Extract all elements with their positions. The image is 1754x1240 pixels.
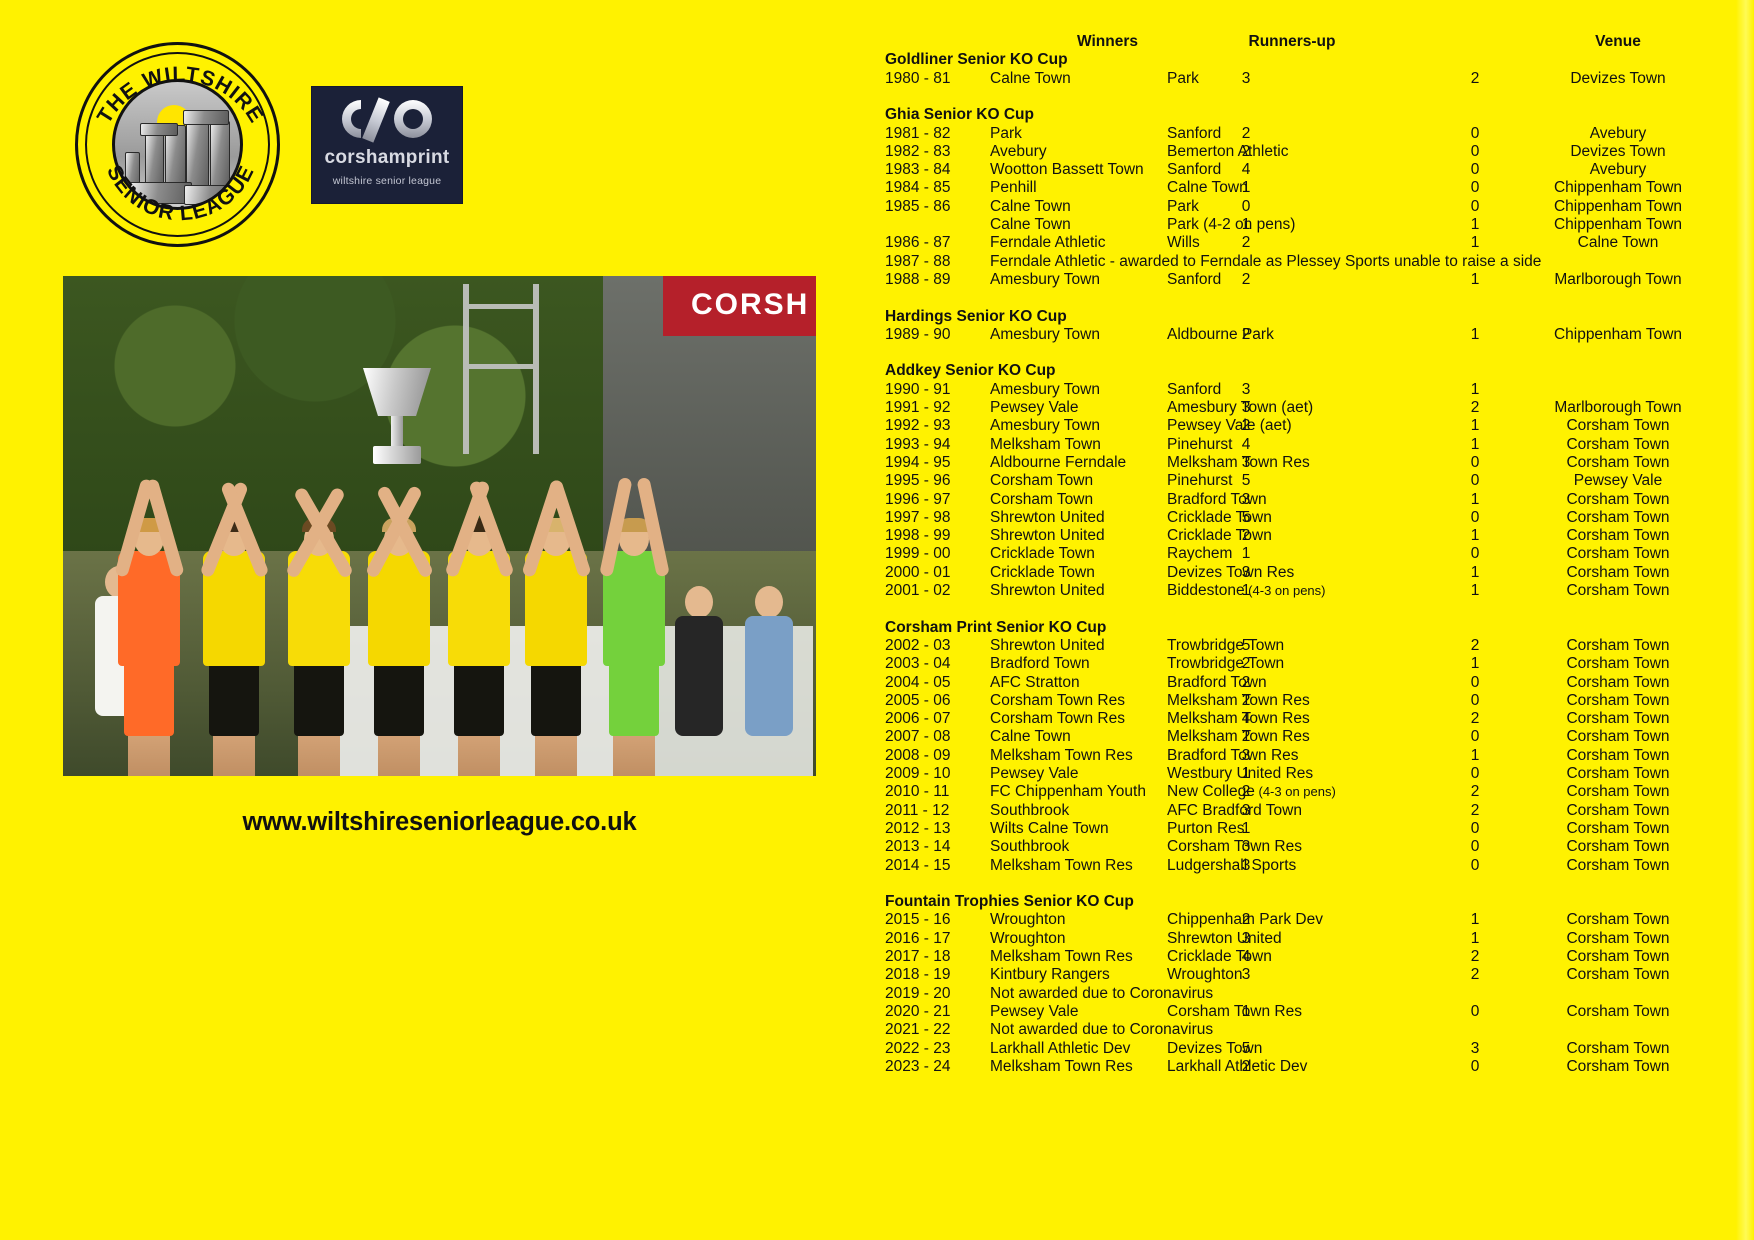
runner-up-score-cell: 1: [1465, 747, 1485, 765]
season-cell: 2004 - 05: [885, 674, 977, 692]
table-row: 2006 - 07Corsham Town Res4Melksham Town …: [880, 710, 1754, 728]
runner-up-cell: Wroughton: [1167, 966, 1457, 984]
spectator: [673, 586, 725, 736]
venue-cell: Corsham Town: [1495, 1003, 1741, 1021]
venue-cell: Corsham Town: [1495, 966, 1741, 984]
cup-section-title-row: Addkey Senior KO Cup: [880, 362, 1754, 380]
runner-up-score-cell: 2: [1465, 802, 1485, 820]
season-cell: 2012 - 13: [885, 820, 977, 838]
trophy-icon: [353, 368, 441, 476]
runner-up-cell: Cricklade Town: [1167, 509, 1457, 527]
runner-up-score-cell: 1: [1465, 271, 1485, 289]
runner-up-score-cell: 0: [1465, 125, 1485, 143]
table-row: 1982 - 83Avebury2Bemerton Athletic0Deviz…: [880, 143, 1754, 161]
runner-up-score-cell: 1: [1465, 930, 1485, 948]
venue-cell: Calne Town: [1495, 234, 1741, 252]
table-row: 2018 - 19Kintbury Rangers3Wroughton2Cors…: [880, 966, 1754, 984]
runner-up-score-cell: 0: [1465, 728, 1485, 746]
table-row: 2011 - 12Southbrook3AFC Bradford Town2Co…: [880, 802, 1754, 820]
runner-up-cell: Bradford Town: [1167, 674, 1457, 692]
season-cell: 2005 - 06: [885, 692, 977, 710]
season-cell: 1992 - 93: [885, 417, 977, 435]
table-row: 2004 - 05AFC Stratton2Bradford Town0Cors…: [880, 674, 1754, 692]
season-cell: 2015 - 16: [885, 911, 977, 929]
runner-up-score-cell: 1: [1465, 234, 1485, 252]
runner-up-score-cell: 0: [1465, 545, 1485, 563]
table-row: 1998 - 99Shrewton United2Cricklade Town1…: [880, 527, 1754, 545]
runner-up-score-cell: 0: [1465, 692, 1485, 710]
season-cell: 2017 - 18: [885, 948, 977, 966]
season-cell: 1983 - 84: [885, 161, 977, 179]
venue-cell: Corsham Town: [1495, 1040, 1741, 1058]
runner-up-score-cell: 0: [1465, 674, 1485, 692]
table-row: 2023 - 24Melksham Town Res2Larkhall Athl…: [880, 1058, 1754, 1076]
runner-up-cell: Ludgershall Sports: [1167, 857, 1457, 875]
season-cell: 2019 - 20: [885, 985, 977, 1003]
season-cell: 1984 - 85: [885, 179, 977, 197]
table-row: 2010 - 11FC Chippenham Youth2New College…: [880, 783, 1754, 801]
runner-up-score-cell: 0: [1465, 765, 1485, 783]
venue-cell: Chippenham Town: [1495, 179, 1741, 197]
venue-cell: Chippenham Town: [1495, 198, 1741, 216]
venue-cell: Corsham Town: [1495, 509, 1741, 527]
runner-up-score-cell: 2: [1465, 710, 1485, 728]
table-row: 1989 - 90Amesbury Town2Aldbourne Park1Ch…: [880, 326, 1754, 344]
website-url[interactable]: www.wiltshireseniorleague.co.uk: [63, 808, 816, 837]
table-row: 2022 - 23Larkhall Athletic Dev5Devizes T…: [880, 1040, 1754, 1058]
season-cell: 1989 - 90: [885, 326, 977, 344]
venue-cell: Corsham Town: [1495, 911, 1741, 929]
table-row: 2019 - 20Not awarded due to Coronavirus: [880, 985, 1754, 1003]
runner-up-score-cell: 1: [1465, 527, 1485, 545]
venue-cell: Chippenham Town: [1495, 326, 1741, 344]
honours-table: WinnersRunners-upVenueGoldliner Senior K…: [880, 0, 1754, 1240]
season-cell: 1980 - 81: [885, 70, 977, 88]
season-cell: 2003 - 04: [885, 655, 977, 673]
corshamprint-logo: corshamprint wiltshire senior league: [311, 86, 463, 204]
venue-cell: Corsham Town: [1495, 637, 1741, 655]
season-cell: 2018 - 19: [885, 966, 977, 984]
table-row: 2002 - 03Shrewton United5Trowbridge Town…: [880, 637, 1754, 655]
cup-title: Ghia Senior KO Cup: [885, 106, 1034, 124]
season-cell: 2023 - 24: [885, 1058, 977, 1076]
runner-up-cell: Wills: [1167, 234, 1457, 252]
table-row: 2003 - 04Bradford Town2Trowbridge Town1C…: [880, 655, 1754, 673]
runner-up-cell: Sanford: [1167, 161, 1457, 179]
runner-up-cell: Bemerton Athletic: [1167, 143, 1457, 161]
runner-up-cell: Sanford: [1167, 381, 1457, 399]
season-cell: 1997 - 98: [885, 509, 977, 527]
table-row: 1996 - 97Corsham Town3Bradford Town1Cors…: [880, 491, 1754, 509]
runner-up-cell: Cricklade Town: [1167, 948, 1457, 966]
season-cell: 1981 - 82: [885, 125, 977, 143]
venue-cell: Corsham Town: [1495, 802, 1741, 820]
season-cell: 2011 - 12: [885, 802, 977, 820]
season-cell: 1996 - 97: [885, 491, 977, 509]
crest-top-text: THE WILTSHIRE: [93, 63, 268, 128]
season-cell: 1998 - 99: [885, 527, 977, 545]
table-row: 2020 - 21Pewsey Vale1Corsham Town Res0Co…: [880, 1003, 1754, 1021]
runner-up-score-cell: 0: [1465, 143, 1485, 161]
cup-title: Corsham Print Senior KO Cup: [885, 619, 1106, 637]
season-cell: 2016 - 17: [885, 930, 977, 948]
season-cell: 2009 - 10: [885, 765, 977, 783]
note-cell: Ferndale Athletic - awarded to Ferndale …: [990, 253, 1690, 271]
season-cell: 2001 - 02: [885, 582, 977, 600]
table-row: 1983 - 84Wootton Bassett Town4Sanford0Av…: [880, 161, 1754, 179]
runner-up-score-cell: 2: [1465, 966, 1485, 984]
runner-up-score-cell: 0: [1465, 161, 1485, 179]
venue-cell: Corsham Town: [1495, 436, 1741, 454]
table-row: 2007 - 08Calne Town2Melksham Town Res0Co…: [880, 728, 1754, 746]
svg-text:THE WILTSHIRE: THE WILTSHIRE: [93, 63, 268, 128]
crest-bottom-text: SENIOR LEAGUE: [102, 162, 259, 226]
runner-up-score-cell: 0: [1465, 472, 1485, 490]
table-row: 2013 - 14Southbrook3Corsham Town Res0Cor…: [880, 838, 1754, 856]
runner-up-score-cell: 2: [1465, 637, 1485, 655]
table-row: 2016 - 17Wroughton3Shrewton United1Corsh…: [880, 930, 1754, 948]
runner-up-score-cell: 2: [1465, 783, 1485, 801]
season-cell: 2014 - 15: [885, 857, 977, 875]
sponsor-name: corshamprint: [312, 147, 462, 169]
photo-banner-text: CORSH: [663, 276, 816, 322]
cup-title: Addkey Senior KO Cup: [885, 362, 1056, 380]
runner-up-cell: New College (4-3 on pens): [1167, 783, 1457, 801]
table-header-row: WinnersRunners-upVenue: [880, 33, 1754, 51]
runner-up-cell: Chippenham Park Dev: [1167, 911, 1457, 929]
season-cell: 1990 - 91: [885, 381, 977, 399]
runner-up-cell: Bradford Town: [1167, 491, 1457, 509]
penalties-note: (4-3 on pens): [1245, 583, 1326, 598]
runner-up-cell: Amesbury Town (aet): [1167, 399, 1457, 417]
runner-up-score-cell: 0: [1465, 509, 1485, 527]
table-row: 2021 - 22Not awarded due to Coronavirus: [880, 1021, 1754, 1039]
season-cell: 2008 - 09: [885, 747, 977, 765]
table-row: 2009 - 10Pewsey Vale1Westbury United Res…: [880, 765, 1754, 783]
cup-title: Goldliner Senior KO Cup: [885, 51, 1068, 69]
runner-up-cell: Purton Res: [1167, 820, 1457, 838]
runner-up-score-cell: 0: [1465, 1058, 1485, 1076]
runner-up-score-cell: 1: [1465, 326, 1485, 344]
table-row: 2000 - 01Cricklade Town3Devizes Town Res…: [880, 564, 1754, 582]
sponsor-subtitle: wiltshire senior league: [312, 175, 462, 187]
runner-up-score-cell: 0: [1465, 1003, 1485, 1021]
runner-up-cell: AFC Bradford Town: [1167, 802, 1457, 820]
season-cell: 1985 - 86: [885, 198, 977, 216]
venue-cell: Corsham Town: [1495, 674, 1741, 692]
runner-up-cell: Sanford: [1167, 271, 1457, 289]
note-cell: Not awarded due to Coronavirus: [990, 985, 1690, 1003]
note-cell: Not awarded due to Coronavirus: [990, 1021, 1690, 1039]
runner-up-cell: Calne Town: [1167, 179, 1457, 197]
venue-cell: Pewsey Vale: [1495, 472, 1741, 490]
table-row: 1980 - 81Calne Town3Park2Devizes Town: [880, 70, 1754, 88]
venue-cell: Corsham Town: [1495, 857, 1741, 875]
spectator: [743, 586, 795, 736]
penalties-note: (4-3 on pens): [1255, 784, 1336, 799]
runner-up-cell: Trowbridge Town: [1167, 655, 1457, 673]
table-row: 2012 - 13Wilts Calne Town1Purton Res0Cor…: [880, 820, 1754, 838]
cup-section-title-row: Corsham Print Senior KO Cup: [880, 619, 1754, 637]
table-row: 1987 - 88Ferndale Athletic - awarded to …: [880, 253, 1754, 271]
season-cell: 2021 - 22: [885, 1021, 977, 1039]
runner-up-score-cell: 0: [1465, 838, 1485, 856]
runner-up-cell: Corsham Town Res: [1167, 1003, 1457, 1021]
runner-up-cell: Sanford: [1167, 125, 1457, 143]
runner-up-cell: Devizes Town Res: [1167, 564, 1457, 582]
column-header-runners-up: Runners-up: [1167, 33, 1417, 51]
venue-cell: Corsham Town: [1495, 930, 1741, 948]
cup-section-title-row: Fountain Trophies Senior KO Cup: [880, 893, 1754, 911]
runner-up-cell: Cricklade Town: [1167, 527, 1457, 545]
table-row: 1990 - 91Amesbury Town3Sanford1: [880, 381, 1754, 399]
venue-cell: Avebury: [1495, 125, 1741, 143]
season-cell: 1988 - 89: [885, 271, 977, 289]
right-edge-strip: [1736, 0, 1754, 1240]
wiltshire-senior-league-crest: THE WILTSHIRE SENIOR LEAGUE: [75, 42, 280, 247]
cup-title: Hardings Senior KO Cup: [885, 308, 1067, 326]
venue-cell: Corsham Town: [1495, 765, 1741, 783]
table-row: 1993 - 94Melksham Town4Pinehurst1Corsham…: [880, 436, 1754, 454]
table-row: 1997 - 98Shrewton United5Cricklade Town0…: [880, 509, 1754, 527]
season-cell: 2002 - 03: [885, 637, 977, 655]
runner-up-cell: Park (4-2 on pens): [1167, 216, 1457, 234]
runner-up-cell: Corsham Town Res: [1167, 838, 1457, 856]
venue-cell: Corsham Town: [1495, 527, 1741, 545]
season-cell: 2022 - 23: [885, 1040, 977, 1058]
season-cell: 1982 - 83: [885, 143, 977, 161]
venue-cell: Chippenham Town: [1495, 216, 1741, 234]
team-celebration-photo: CORSH: [63, 276, 816, 776]
season-cell: 2010 - 11: [885, 783, 977, 801]
table-row: 1981 - 82Park2Sanford0Avebury: [880, 125, 1754, 143]
season-cell: 1993 - 94: [885, 436, 977, 454]
runner-up-cell: Aldbourne Park: [1167, 326, 1457, 344]
runner-up-score-cell: 0: [1465, 454, 1485, 472]
photo-scaffold: [463, 284, 613, 454]
runner-up-score-cell: 1: [1465, 564, 1485, 582]
table-row: 1984 - 85Penhill1Calne Town0Chippenham T…: [880, 179, 1754, 197]
runner-up-score-cell: 1: [1465, 216, 1485, 234]
runner-up-cell: Melksham Town Res: [1167, 710, 1457, 728]
venue-cell: Corsham Town: [1495, 783, 1741, 801]
table-row: 2008 - 09Melksham Town Res3Bradford Town…: [880, 747, 1754, 765]
season-cell: 2013 - 14: [885, 838, 977, 856]
runner-up-score-cell: 0: [1465, 820, 1485, 838]
venue-cell: Corsham Town: [1495, 838, 1741, 856]
photo-banner: CORSH: [663, 276, 816, 336]
crest-text: THE WILTSHIRE SENIOR LEAGUE: [78, 45, 283, 250]
cup-section-title-row: Hardings Senior KO Cup: [880, 308, 1754, 326]
runner-up-score-cell: 1: [1465, 911, 1485, 929]
runner-up-score-cell: 0: [1465, 179, 1485, 197]
runner-up-score-cell: 3: [1465, 1040, 1485, 1058]
table-row: 1991 - 92Pewsey Vale3Amesbury Town (aet)…: [880, 399, 1754, 417]
table-row: 1992 - 93Amesbury Town2Pewsey Vale (aet)…: [880, 417, 1754, 435]
season-cell: 2007 - 08: [885, 728, 977, 746]
venue-cell: Corsham Town: [1495, 820, 1741, 838]
venue-cell: Corsham Town: [1495, 491, 1741, 509]
cup-title: Fountain Trophies Senior KO Cup: [885, 893, 1134, 911]
table-row: 2017 - 18Melksham Town Res4Cricklade Tow…: [880, 948, 1754, 966]
season-cell: 1991 - 92: [885, 399, 977, 417]
runner-up-score-cell: 2: [1465, 948, 1485, 966]
runner-up-cell: Biddestone (4-3 on pens): [1167, 582, 1457, 600]
venue-cell: Corsham Town: [1495, 692, 1741, 710]
page-root: THE WILTSHIRE SENIOR LEAGUE: [0, 0, 1754, 1240]
cup-section-title-row: Ghia Senior KO Cup: [880, 106, 1754, 124]
venue-cell: Avebury: [1495, 161, 1741, 179]
venue-cell: Corsham Town: [1495, 710, 1741, 728]
venue-cell: Corsham Town: [1495, 728, 1741, 746]
table-row: 1994 - 95Aldbourne Ferndale3Melksham Tow…: [880, 454, 1754, 472]
season-cell: 1986 - 87: [885, 234, 977, 252]
table-row: 1995 - 96Corsham Town5Pinehurst0Pewsey V…: [880, 472, 1754, 490]
table-row: 2015 - 16Wroughton2Chippenham Park Dev1C…: [880, 911, 1754, 929]
runner-up-score-cell: 2: [1465, 399, 1485, 417]
venue-cell: Corsham Town: [1495, 747, 1741, 765]
left-panel: THE WILTSHIRE SENIOR LEAGUE: [0, 0, 880, 1240]
c-slash-o-icon: [312, 93, 462, 145]
runner-up-cell: Melksham Town Res: [1167, 454, 1457, 472]
venue-cell: Corsham Town: [1495, 564, 1741, 582]
runner-up-cell: Park: [1167, 198, 1457, 216]
venue-cell: Marlborough Town: [1495, 271, 1741, 289]
venue-cell: Corsham Town: [1495, 948, 1741, 966]
venue-cell: Devizes Town: [1495, 143, 1741, 161]
runner-up-score-cell: 1: [1465, 436, 1485, 454]
table-row: 1988 - 89Amesbury Town2Sanford1Marlborou…: [880, 271, 1754, 289]
runner-up-cell: Melksham Town Res: [1167, 728, 1457, 746]
cup-section-title-row: Goldliner Senior KO Cup: [880, 51, 1754, 69]
venue-cell: Corsham Town: [1495, 1058, 1741, 1076]
venue-cell: Corsham Town: [1495, 655, 1741, 673]
table-row: 1999 - 00Cricklade Town1Raychem0Corsham …: [880, 545, 1754, 563]
runner-up-cell: Shrewton United: [1167, 930, 1457, 948]
table-row: 2001 - 02Shrewton United1Biddestone (4-3…: [880, 582, 1754, 600]
runner-up-score-cell: 2: [1465, 70, 1485, 88]
season-cell: 2020 - 21: [885, 1003, 977, 1021]
runner-up-cell: Bradford Town Res: [1167, 747, 1457, 765]
season-cell: 1987 - 88: [885, 253, 977, 271]
runner-up-cell: Trowbridge Town: [1167, 637, 1457, 655]
runner-up-score-cell: 1: [1465, 491, 1485, 509]
runner-up-cell: Raychem: [1167, 545, 1457, 563]
venue-cell: Devizes Town: [1495, 70, 1741, 88]
season-cell: 1999 - 00: [885, 545, 977, 563]
season-cell: 2006 - 07: [885, 710, 977, 728]
runner-up-cell: Devizes Town: [1167, 1040, 1457, 1058]
runner-up-cell: Pewsey Vale (aet): [1167, 417, 1457, 435]
venue-cell: Marlborough Town: [1495, 399, 1741, 417]
venue-cell: Corsham Town: [1495, 582, 1741, 600]
season-cell: 1994 - 95: [885, 454, 977, 472]
runner-up-score-cell: 1: [1465, 582, 1485, 600]
runner-up-score-cell: 0: [1465, 198, 1485, 216]
runner-up-cell: Melksham Town Res: [1167, 692, 1457, 710]
runner-up-score-cell: 1: [1465, 381, 1485, 399]
runner-up-cell: Park: [1167, 70, 1457, 88]
runner-up-score-cell: 0: [1465, 857, 1485, 875]
season-cell: 2000 - 01: [885, 564, 977, 582]
venue-cell: Corsham Town: [1495, 454, 1741, 472]
runner-up-cell: Westbury United Res: [1167, 765, 1457, 783]
runner-up-cell: Larkhall Athletic Dev: [1167, 1058, 1457, 1076]
table-row: 1986 - 87Ferndale Athletic2Wills1Calne T…: [880, 234, 1754, 252]
season-cell: 1995 - 96: [885, 472, 977, 490]
svg-text:SENIOR LEAGUE: SENIOR LEAGUE: [102, 162, 259, 226]
table-row: Calne Town1Park (4-2 on pens)1Chippenham…: [880, 216, 1754, 234]
column-header-venue: Venue: [1495, 33, 1741, 51]
venue-cell: Corsham Town: [1495, 545, 1741, 563]
runner-up-score-cell: 1: [1465, 655, 1485, 673]
table-row: 2005 - 06Corsham Town Res2Melksham Town …: [880, 692, 1754, 710]
runner-up-score-cell: 1: [1465, 417, 1485, 435]
runner-up-cell: Pinehurst: [1167, 472, 1457, 490]
table-row: 1985 - 86Calne Town0Park0Chippenham Town: [880, 198, 1754, 216]
table-row: 2014 - 15Melksham Town Res3Ludgershall S…: [880, 857, 1754, 875]
runner-up-cell: Pinehurst: [1167, 436, 1457, 454]
venue-cell: Corsham Town: [1495, 417, 1741, 435]
